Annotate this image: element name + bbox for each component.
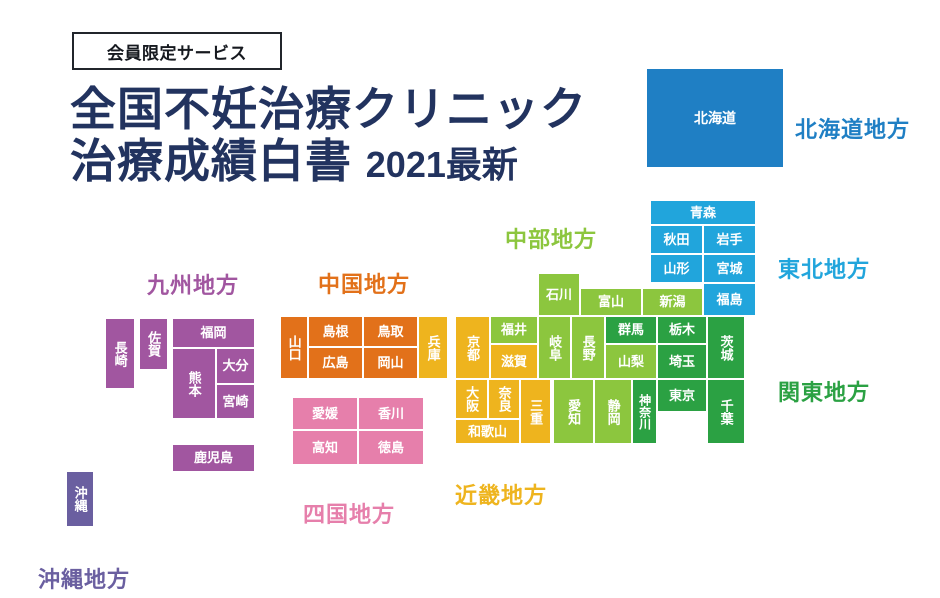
prefecture-tile[interactable]: 徳島 [358, 430, 424, 465]
prefecture-label: 徳島 [378, 441, 404, 454]
prefecture-label: 京都 [466, 335, 479, 361]
page-title-year: 2021最新 [366, 144, 518, 185]
prefecture-label: 千葉 [719, 399, 732, 425]
prefecture-tile[interactable]: 広島 [308, 347, 363, 379]
prefecture-label: 長崎 [113, 341, 126, 367]
region-label-chugoku: 中国地方 [318, 267, 410, 299]
prefecture-label: 兵庫 [426, 335, 439, 361]
prefecture-tile[interactable]: 大阪 [455, 379, 488, 419]
prefecture-tile[interactable]: 北海道 [646, 68, 784, 168]
prefecture-tile[interactable]: 岐阜 [538, 316, 571, 379]
prefecture-label: 大分 [222, 359, 248, 372]
prefecture-label: 新潟 [659, 295, 685, 308]
prefecture-label: 栃木 [669, 323, 695, 336]
prefecture-label: 大阪 [465, 386, 478, 412]
members-only-badge: 会員限定サービス [72, 32, 282, 70]
prefecture-label: 愛知 [567, 399, 580, 425]
prefecture-tile[interactable]: 鹿児島 [172, 444, 255, 472]
prefecture-label: 青森 [690, 206, 716, 219]
prefecture-tile[interactable]: 東京 [657, 379, 707, 412]
region-label-shikoku: 四国地方 [303, 497, 395, 529]
prefecture-label: 鳥取 [377, 325, 403, 338]
prefecture-tile[interactable]: 富山 [580, 288, 642, 316]
prefecture-tile[interactable]: 石川 [538, 273, 580, 316]
prefecture-tile[interactable]: 山梨 [605, 344, 657, 379]
prefecture-tile[interactable]: 青森 [650, 200, 756, 225]
prefecture-tile[interactable]: 三重 [520, 379, 551, 444]
prefecture-label: 埼玉 [669, 355, 695, 368]
prefecture-tile[interactable]: 滋賀 [490, 344, 538, 379]
prefecture-tile[interactable]: 山形 [650, 254, 703, 283]
prefecture-tile[interactable]: 兵庫 [418, 316, 448, 379]
prefecture-tile[interactable]: 香川 [358, 397, 424, 430]
prefecture-tile[interactable]: 和歌山 [455, 419, 520, 444]
prefecture-tile[interactable]: 沖縄 [66, 471, 94, 527]
prefecture-label: 岐阜 [548, 335, 561, 361]
prefecture-tile[interactable]: 新潟 [642, 288, 703, 316]
prefecture-label: 三重 [529, 399, 542, 425]
prefecture-label: 広島 [322, 356, 348, 369]
prefecture-tile[interactable]: 栃木 [657, 316, 707, 344]
region-label-kanto: 関東地方 [778, 375, 870, 407]
prefecture-label: 滋賀 [501, 355, 527, 368]
prefecture-tile[interactable]: 福岡 [172, 318, 255, 348]
prefecture-label: 秋田 [663, 233, 689, 246]
prefecture-label: 群馬 [618, 323, 644, 336]
region-label-okinawa: 沖縄地方 [38, 562, 130, 594]
prefecture-label: 宮崎 [222, 395, 248, 408]
prefecture-tile[interactable]: 神奈川 [632, 379, 657, 444]
page-title: 全国不妊治療クリニック 治療成績白書 2021最新 [70, 84, 650, 187]
members-only-badge-label: 会員限定サービス [107, 39, 247, 64]
prefecture-label: 長野 [581, 335, 594, 361]
prefecture-label: 神奈川 [638, 394, 650, 430]
prefecture-tile[interactable]: 島根 [308, 316, 363, 347]
prefecture-tile[interactable]: 愛知 [553, 379, 594, 444]
prefecture-tile[interactable]: 愛媛 [292, 397, 358, 430]
prefecture-label: 静岡 [606, 399, 619, 425]
prefecture-tile[interactable]: 福島 [703, 283, 756, 316]
region-label-chubu: 中部地方 [505, 222, 597, 254]
page-title-line2: 治療成績白書 2021最新 [70, 136, 650, 188]
prefecture-label: 高知 [312, 441, 338, 454]
prefecture-tile[interactable]: 宮崎 [216, 384, 255, 419]
region-label-hokkaido: 北海道地方 [795, 112, 910, 144]
prefecture-label: 宮城 [716, 262, 742, 275]
prefecture-tile[interactable]: 長野 [571, 316, 605, 379]
prefecture-label: 山形 [663, 262, 689, 275]
prefecture-label: 福岡 [200, 326, 226, 339]
prefecture-label: 福島 [716, 293, 742, 306]
prefecture-label: 福井 [501, 323, 527, 336]
prefecture-tile[interactable]: 宮城 [703, 254, 756, 283]
prefecture-tile[interactable]: 佐賀 [139, 318, 168, 370]
prefecture-tile[interactable]: 千葉 [707, 379, 745, 444]
prefecture-label: 佐賀 [147, 331, 160, 357]
prefecture-label: 山口 [287, 335, 300, 361]
prefecture-tile[interactable]: 京都 [455, 316, 490, 379]
prefecture-label: 鹿児島 [194, 451, 233, 464]
prefecture-label: 沖縄 [73, 486, 86, 512]
prefecture-tile[interactable]: 福井 [490, 316, 538, 344]
prefecture-tile[interactable]: 鳥取 [363, 316, 418, 347]
prefecture-label: 奈良 [497, 386, 510, 412]
prefecture-tile[interactable]: 奈良 [488, 379, 520, 419]
prefecture-tile[interactable]: 静岡 [594, 379, 632, 444]
prefecture-label: 石川 [546, 288, 572, 301]
prefecture-label: 香川 [378, 407, 404, 420]
prefecture-label: 熊本 [187, 371, 200, 397]
region-label-kinki: 近畿地方 [455, 478, 547, 510]
prefecture-label: 東京 [669, 389, 695, 402]
prefecture-label: 愛媛 [312, 407, 338, 420]
prefecture-tile[interactable]: 岩手 [703, 225, 756, 254]
prefecture-label: 和歌山 [468, 425, 507, 438]
prefecture-label: 北海道 [694, 111, 736, 125]
region-label-kyushu: 九州地方 [147, 268, 239, 300]
prefecture-label: 山梨 [618, 355, 644, 368]
prefecture-label: 岡山 [377, 356, 403, 369]
prefecture-tile[interactable]: 秋田 [650, 225, 703, 254]
prefecture-tile[interactable]: 埼玉 [657, 344, 707, 379]
prefecture-tile[interactable]: 長崎 [105, 318, 135, 389]
prefecture-tile[interactable]: 群馬 [605, 316, 657, 344]
prefecture-tile[interactable]: 岡山 [363, 347, 418, 379]
prefecture-label: 茨城 [719, 335, 732, 361]
prefecture-tile[interactable]: 高知 [292, 430, 358, 465]
prefecture-tile[interactable]: 熊本 [172, 348, 216, 419]
infographic-canvas: 会員限定サービス 全国不妊治療クリニック 治療成績白書 2021最新 北海道青森… [0, 0, 940, 598]
prefecture-tile[interactable]: 大分 [216, 348, 255, 384]
prefecture-label: 島根 [322, 325, 348, 338]
page-title-line1: 全国不妊治療クリニック [70, 84, 650, 136]
prefecture-tile[interactable]: 茨城 [707, 316, 745, 379]
region-label-tohoku: 東北地方 [778, 252, 870, 284]
page-title-line2-main: 治療成績白書 [70, 135, 366, 187]
prefecture-label: 富山 [598, 295, 624, 308]
prefecture-label: 岩手 [716, 233, 742, 246]
prefecture-tile[interactable]: 山口 [280, 316, 308, 379]
